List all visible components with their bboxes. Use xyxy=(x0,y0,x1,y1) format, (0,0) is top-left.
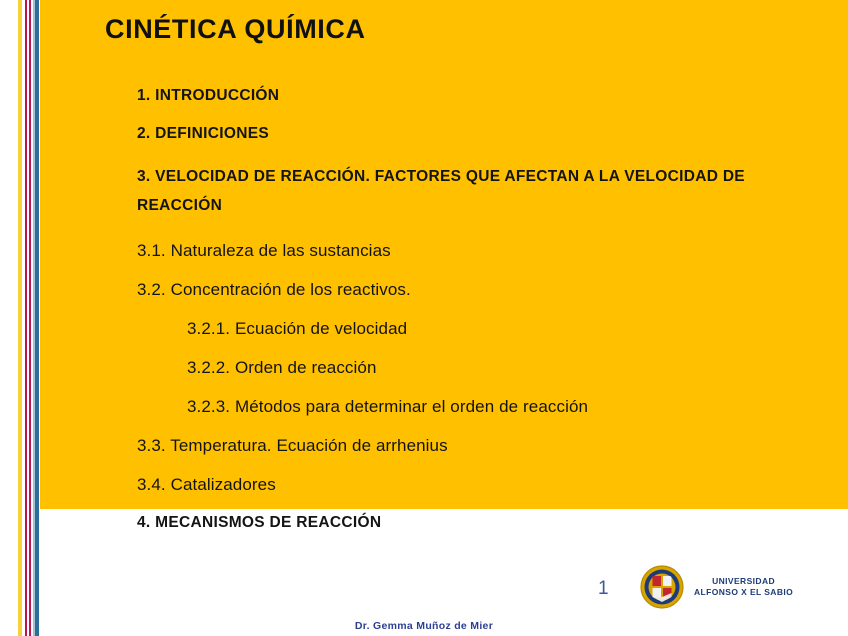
toc-item-3: 3. VELOCIDAD DE REACCIÓN. FACTORES QUE A… xyxy=(137,163,837,192)
toc-item-3-3: 3.3. Temperatura. Ecuación de arrhenius xyxy=(137,437,837,454)
toc-item-2: 2. DEFINICIONES xyxy=(137,126,837,142)
toc-item-3-continued: REACCIÓN xyxy=(137,192,837,221)
toc-item-3-2-3: 3.2.3. Métodos para determinar el orden … xyxy=(137,398,837,415)
university-seal-icon xyxy=(640,565,684,609)
toc-item-4: 4. MECANISMOS DE REACCIÓN xyxy=(137,515,837,531)
toc-item-3-2: 3.2. Concentración de los reactivos. xyxy=(137,281,837,298)
toc-item-3-4: 3.4. Catalizadores xyxy=(137,476,837,493)
page-number: 1 xyxy=(598,578,609,600)
presentation-slide: CINÉTICA QUÍMICA 1. INTRODUCCIÓN 2. DEFI… xyxy=(0,0,848,636)
university-logo-block: UNIVERSIDAD ALFONSO X EL SABIO xyxy=(640,565,793,609)
toc-item-3-2-2: 3.2.2. Orden de reacción xyxy=(137,359,837,376)
university-wordmark: UNIVERSIDAD ALFONSO X EL SABIO xyxy=(694,576,793,597)
stripe-steel-blue xyxy=(35,0,39,636)
author-footer: Dr. Gemma Muñoz de Mier xyxy=(0,620,848,632)
toc-item-3-1: 3.1. Naturaleza de las sustancias xyxy=(137,242,837,259)
table-of-contents: 1. INTRODUCCIÓN 2. DEFINICIONES 3. VELOC… xyxy=(137,88,837,553)
toc-item-1: 1. INTRODUCCIÓN xyxy=(137,88,837,104)
page-title: CINÉTICA QUÍMICA xyxy=(105,14,366,45)
decorative-stripe-band xyxy=(0,0,42,636)
university-name-line-1: UNIVERSIDAD xyxy=(694,576,793,587)
university-name-line-2: ALFONSO X EL SABIO xyxy=(694,587,793,598)
toc-item-3-2-1: 3.2.1. Ecuación de velocidad xyxy=(137,320,837,337)
